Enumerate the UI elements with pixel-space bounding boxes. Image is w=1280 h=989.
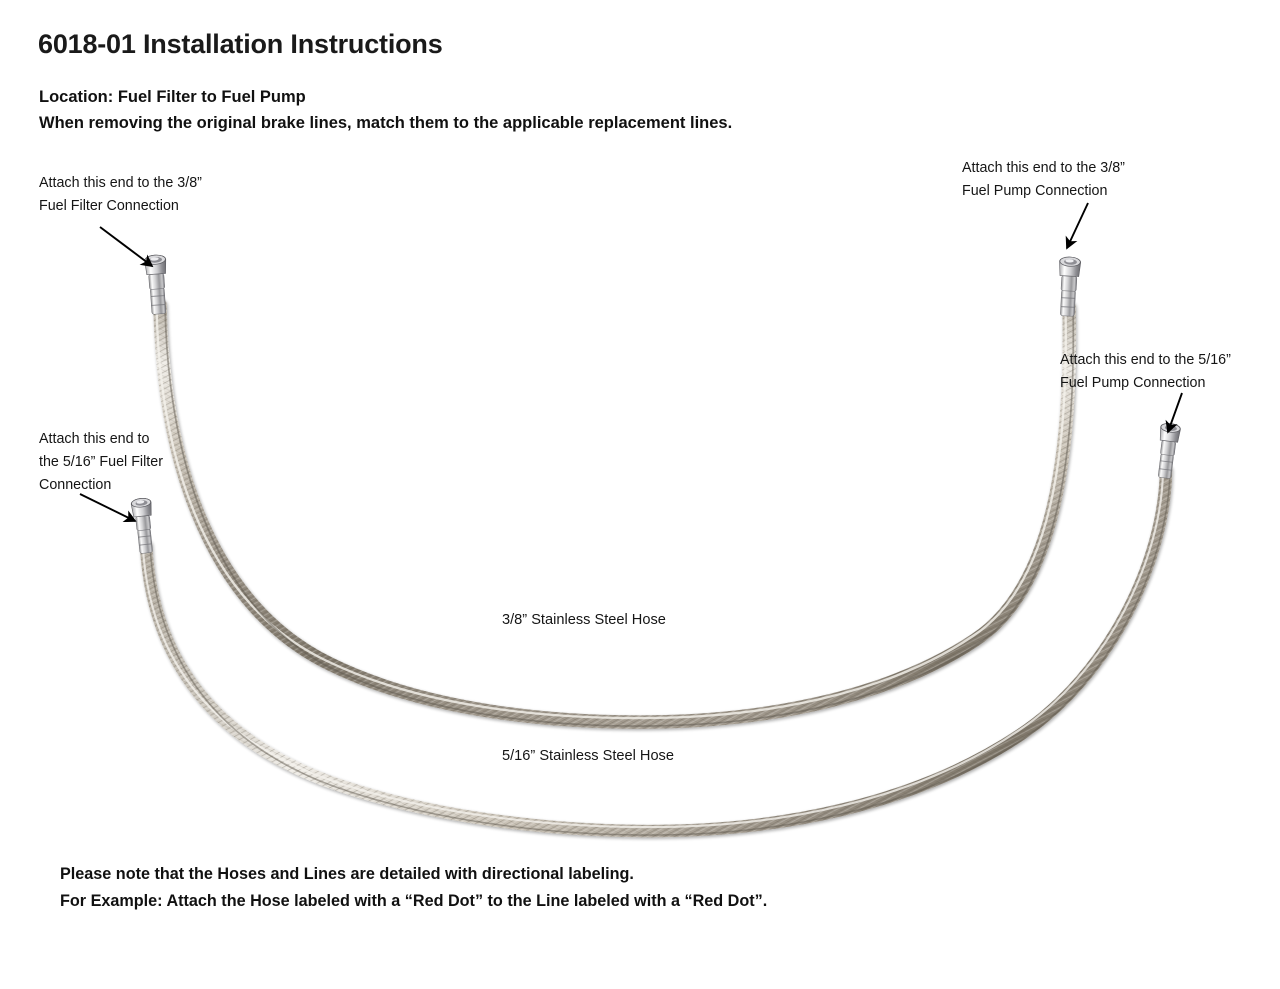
arrow-top-left [100,227,152,266]
installation-instructions-page: 6018-01 Installation Instructions Locati… [0,0,1280,989]
hose-38-graphic [157,305,1074,726]
arrow-top-right [1067,203,1088,248]
location-line: Location: Fuel Filter to Fuel Pump [39,88,306,107]
page-title: 6018-01 Installation Instructions [38,29,443,60]
callout-38-fuel-pump: Attach this end to the 3/8” Fuel Pump Co… [962,157,1125,203]
match-instruction-line: When removing the original brake lines, … [39,114,732,133]
callout-38-fuel-filter: Attach this end to the 3/8” Fuel Filter … [39,172,202,218]
directional-labeling-note: Please note that the Hoses and Lines are… [60,861,767,915]
fitting-516-right [1154,422,1181,479]
fitting-516-left [131,497,157,553]
callout-516-fuel-pump: Attach this end to the 5/16” Fuel Pump C… [1060,349,1231,395]
hose-516-graphic [143,470,1170,835]
fitting-38-left [144,254,169,314]
hose-label-38: 3/8” Stainless Steel Hose [502,612,666,628]
callout-516-fuel-filter: Attach this end to the 5/16” Fuel Filter… [39,428,229,497]
hose-label-516: 5/16” Stainless Steel Hose [502,748,674,764]
arrow-middle-right [1168,393,1182,432]
fitting-38-right [1057,257,1081,317]
arrow-middle-left [80,494,135,521]
